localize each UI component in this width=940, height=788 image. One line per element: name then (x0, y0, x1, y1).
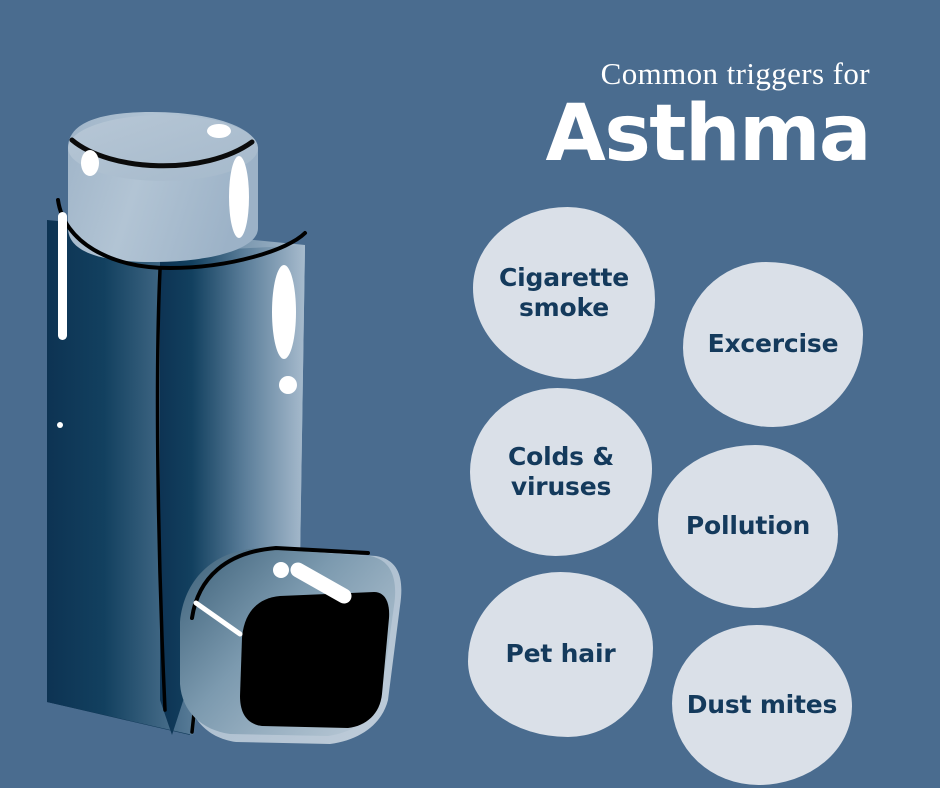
trigger-bubble-dust-mites[interactable]: Dust mites (672, 625, 852, 785)
inhaler-cap (68, 112, 258, 262)
trigger-bubble-excercise[interactable]: Excercise (683, 262, 863, 427)
trigger-bubble-cluster: Cigarette smoke Excercise Colds & viruse… (460, 190, 940, 788)
trigger-label: Pet hair (506, 639, 616, 670)
cap-highlight-streak (229, 156, 249, 238)
trigger-label: Pollution (686, 511, 810, 542)
cap-highlight-dot (81, 150, 99, 176)
asthma-triggers-poster: Common triggers for Asthma Cigarette smo… (0, 0, 940, 788)
inhaler-illustration (0, 0, 460, 788)
poster-heading: Common triggers for Asthma (450, 58, 870, 173)
trigger-bubble-pet-hair[interactable]: Pet hair (468, 572, 653, 737)
trigger-label: Cigarette smoke (485, 263, 643, 324)
trigger-bubble-colds-viruses[interactable]: Colds & viruses (470, 388, 652, 556)
trigger-label: Dust mites (687, 690, 838, 721)
inhaler-mouthpiece (180, 548, 401, 744)
page-title: Asthma (450, 95, 870, 173)
mouthpiece-opening (240, 592, 389, 728)
cap-highlight-small (207, 124, 231, 138)
trigger-bubble-pollution[interactable]: Pollution (658, 445, 838, 608)
trigger-bubble-cigarette-smoke[interactable]: Cigarette smoke (473, 207, 655, 379)
heading-eyebrow: Common triggers for (450, 58, 870, 89)
trigger-label: Colds & viruses (482, 442, 640, 503)
trigger-label: Excercise (708, 329, 839, 360)
